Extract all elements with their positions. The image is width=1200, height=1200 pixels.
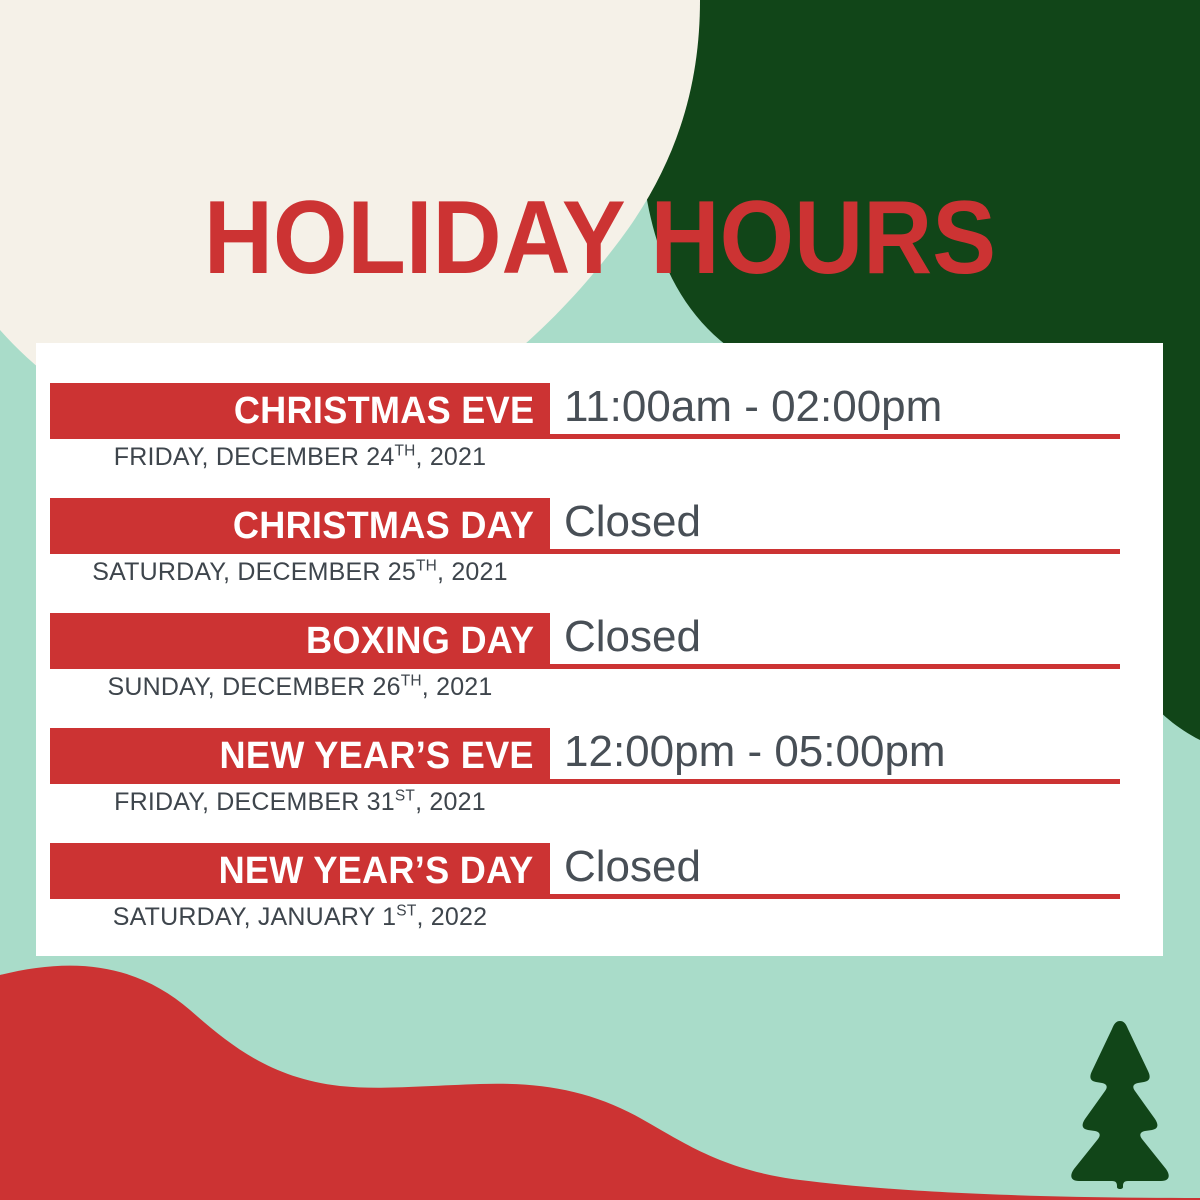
holiday-hours-value: 11:00am - 02:00pm [564, 379, 1164, 435]
red-wave-fill-shape [0, 966, 1200, 1200]
holiday-hours-value: 12:00pm - 05:00pm [564, 724, 1164, 780]
holiday-date: SATURDAY, JANUARY 1ST, 2022 [50, 902, 550, 932]
holiday-hours-value: Closed [564, 609, 1164, 665]
holiday-name: CHRISTMAS EVE [233, 392, 534, 430]
holiday-hours-poster: HOLIDAY HOURS CHRISTMAS EVE 11:00am - 02… [0, 0, 1200, 1200]
schedule-card: CHRISTMAS EVE 11:00am - 02:00pm FRIDAY, … [36, 343, 1163, 956]
holiday-date-ordinal: ST [396, 903, 416, 920]
holiday-name-bar: NEW YEAR’S DAY [50, 843, 550, 899]
schedule-row: NEW YEAR’S DAY Closed SATURDAY, JANUARY … [36, 803, 1163, 918]
red-wave-shape [0, 973, 800, 1199]
holiday-name: CHRISTMAS DAY [233, 507, 534, 545]
christmas-tree-icon [1062, 1019, 1178, 1189]
holiday-name: NEW YEAR’S DAY [219, 852, 534, 890]
holiday-name-bar: CHRISTMAS EVE [50, 383, 550, 439]
schedule-row: CHRISTMAS DAY Closed SATURDAY, DECEMBER … [36, 458, 1163, 573]
holiday-date-year: , 2022 [417, 903, 488, 931]
page-title: HOLIDAY HOURS [48, 186, 1152, 290]
holiday-date-prefix: SATURDAY, JANUARY 1 [113, 903, 397, 931]
holiday-hours-value: Closed [564, 494, 1164, 550]
schedule-row: NEW YEAR’S EVE 12:00pm - 05:00pm FRIDAY,… [36, 688, 1163, 803]
holiday-name-bar: CHRISTMAS DAY [50, 498, 550, 554]
schedule-row: CHRISTMAS EVE 11:00am - 02:00pm FRIDAY, … [36, 343, 1163, 458]
holiday-hours-value: Closed [564, 839, 1164, 895]
holiday-name-bar: BOXING DAY [50, 613, 550, 669]
holiday-name-bar: NEW YEAR’S EVE [50, 728, 550, 784]
holiday-name: BOXING DAY [306, 622, 534, 660]
holiday-name: NEW YEAR’S EVE [220, 737, 534, 775]
schedule-row: BOXING DAY Closed SUNDAY, DECEMBER 26TH,… [36, 573, 1163, 688]
